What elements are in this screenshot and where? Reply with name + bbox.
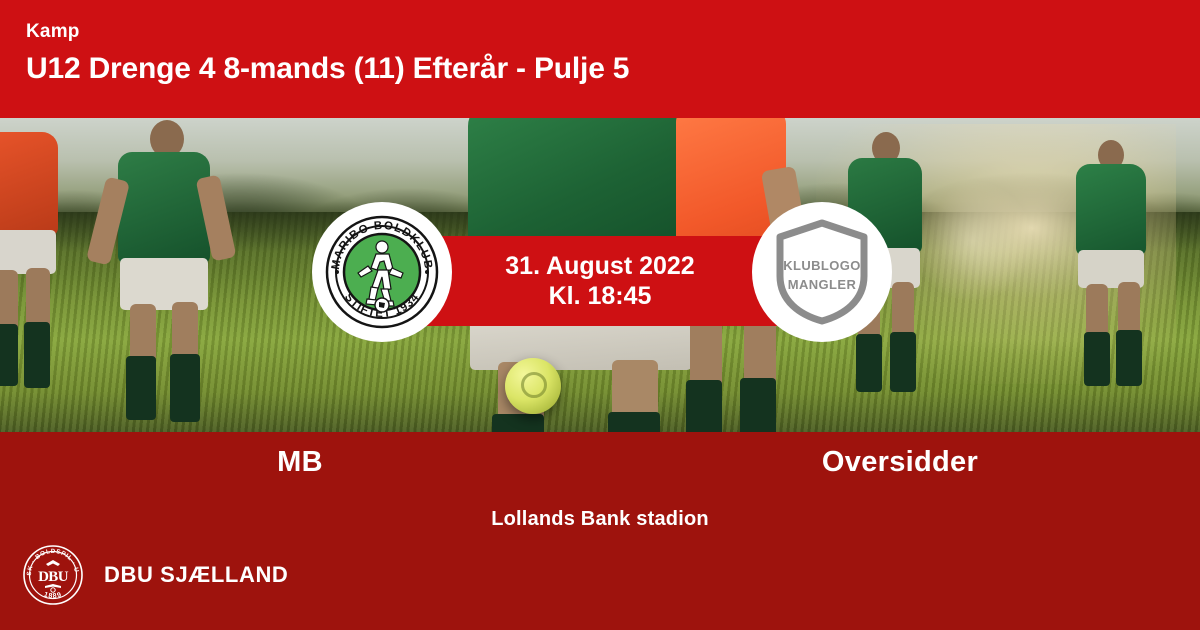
photo-lens-flare: [912, 181, 1032, 301]
svg-text:DBU: DBU: [38, 569, 69, 585]
header-banner: Kamp U12 Drenge 4 8-mands (11) Efterår -…: [0, 0, 1200, 118]
page-title: U12 Drenge 4 8-mands (11) Efterår - Pulj…: [26, 48, 1200, 90]
home-team-name: MB: [0, 446, 600, 479]
photo-football: [505, 358, 561, 414]
placeholder-line2: MANGLER: [788, 277, 857, 292]
match-poster: Kamp U12 Drenge 4 8-mands (11) Efterår -…: [0, 0, 1200, 630]
header-kicker: Kamp: [26, 20, 1200, 44]
away-club-logo-placeholder[interactable]: KLUBLOGO MANGLER: [752, 202, 892, 342]
shield-placeholder-icon: KLUBLOGO MANGLER: [772, 218, 872, 326]
match-date: 31. August 2022: [505, 251, 694, 281]
footer-band: MB Oversidder Lollands Bank stadion DANS…: [0, 432, 1200, 630]
match-time: Kl. 18:45: [549, 281, 652, 311]
team-names-row: MB Oversidder: [0, 446, 1200, 479]
organisation-name: DBU SJÆLLAND: [104, 562, 288, 588]
away-team-name: Oversidder: [600, 446, 1200, 479]
maribo-boldklub-crest-icon: MARIBO BOLDKLUB STIFTET 1934: [323, 213, 441, 331]
match-datetime-banner: 31. August 2022 Kl. 18:45: [390, 236, 810, 326]
organisation-block: DANSK · BOLDSPIL · UNION 1889 DBU DBU SJ…: [22, 544, 288, 606]
venue-name: Lollands Bank stadion: [0, 508, 1200, 531]
dbu-crest-icon: DANSK · BOLDSPIL · UNION 1889 DBU: [22, 544, 84, 606]
home-club-logo[interactable]: MARIBO BOLDKLUB STIFTET 1934: [312, 202, 452, 342]
placeholder-line1: KLUBLOGO: [783, 258, 861, 273]
